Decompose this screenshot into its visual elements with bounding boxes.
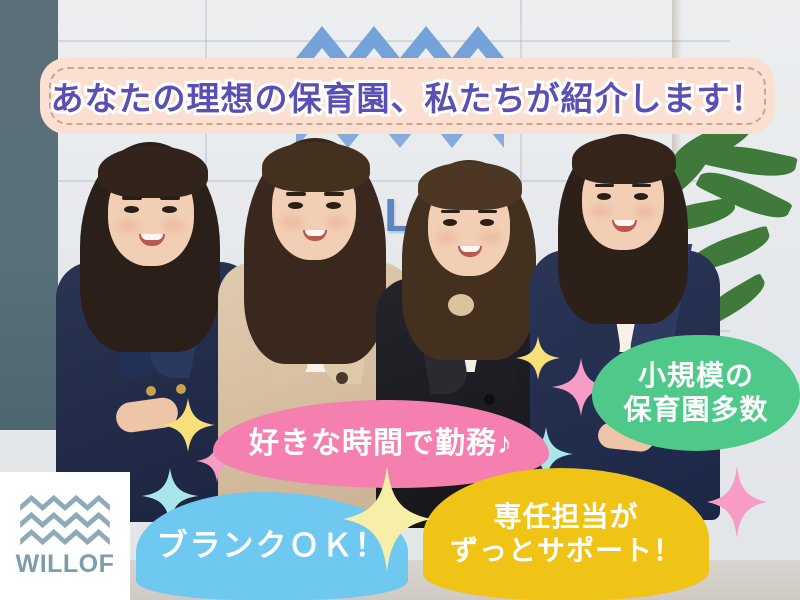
sparkle-icon [706, 466, 768, 538]
zigzag-icon [18, 494, 112, 546]
bubble-yellow-line2: ずっとサポート！ [450, 534, 682, 568]
headline-text: あなたの理想の保育園、私たちが紹介します！ [51, 72, 765, 120]
sparkle-icon [343, 463, 431, 575]
headline-banner: あなたの理想の保育園、私たちが紹介します！ [40, 58, 775, 134]
bubble-yellow-line1: 専任担当が [450, 500, 682, 534]
bubble-green-line2: 保育園多数 [623, 393, 768, 427]
bubble-yellow: 専任担当が ずっとサポート！ [423, 468, 709, 600]
willof-logo-badge: WILLOF [0, 472, 130, 600]
logo-wordmark: WILLOF [16, 550, 115, 579]
bubble-green: 小規模の 保育園多数 [592, 335, 800, 451]
bubble-green-line1: 小規模の [623, 359, 768, 393]
bubble-pink-text: 好きな時間で勤務♪ [249, 426, 513, 463]
poster-canvas: WILL [0, 0, 800, 600]
graphic-overlay: 小規模の 保育園多数 好きな時間で勤務♪ ブランクＯＫ！ 専任担当が ずっとサポ… [0, 0, 800, 600]
